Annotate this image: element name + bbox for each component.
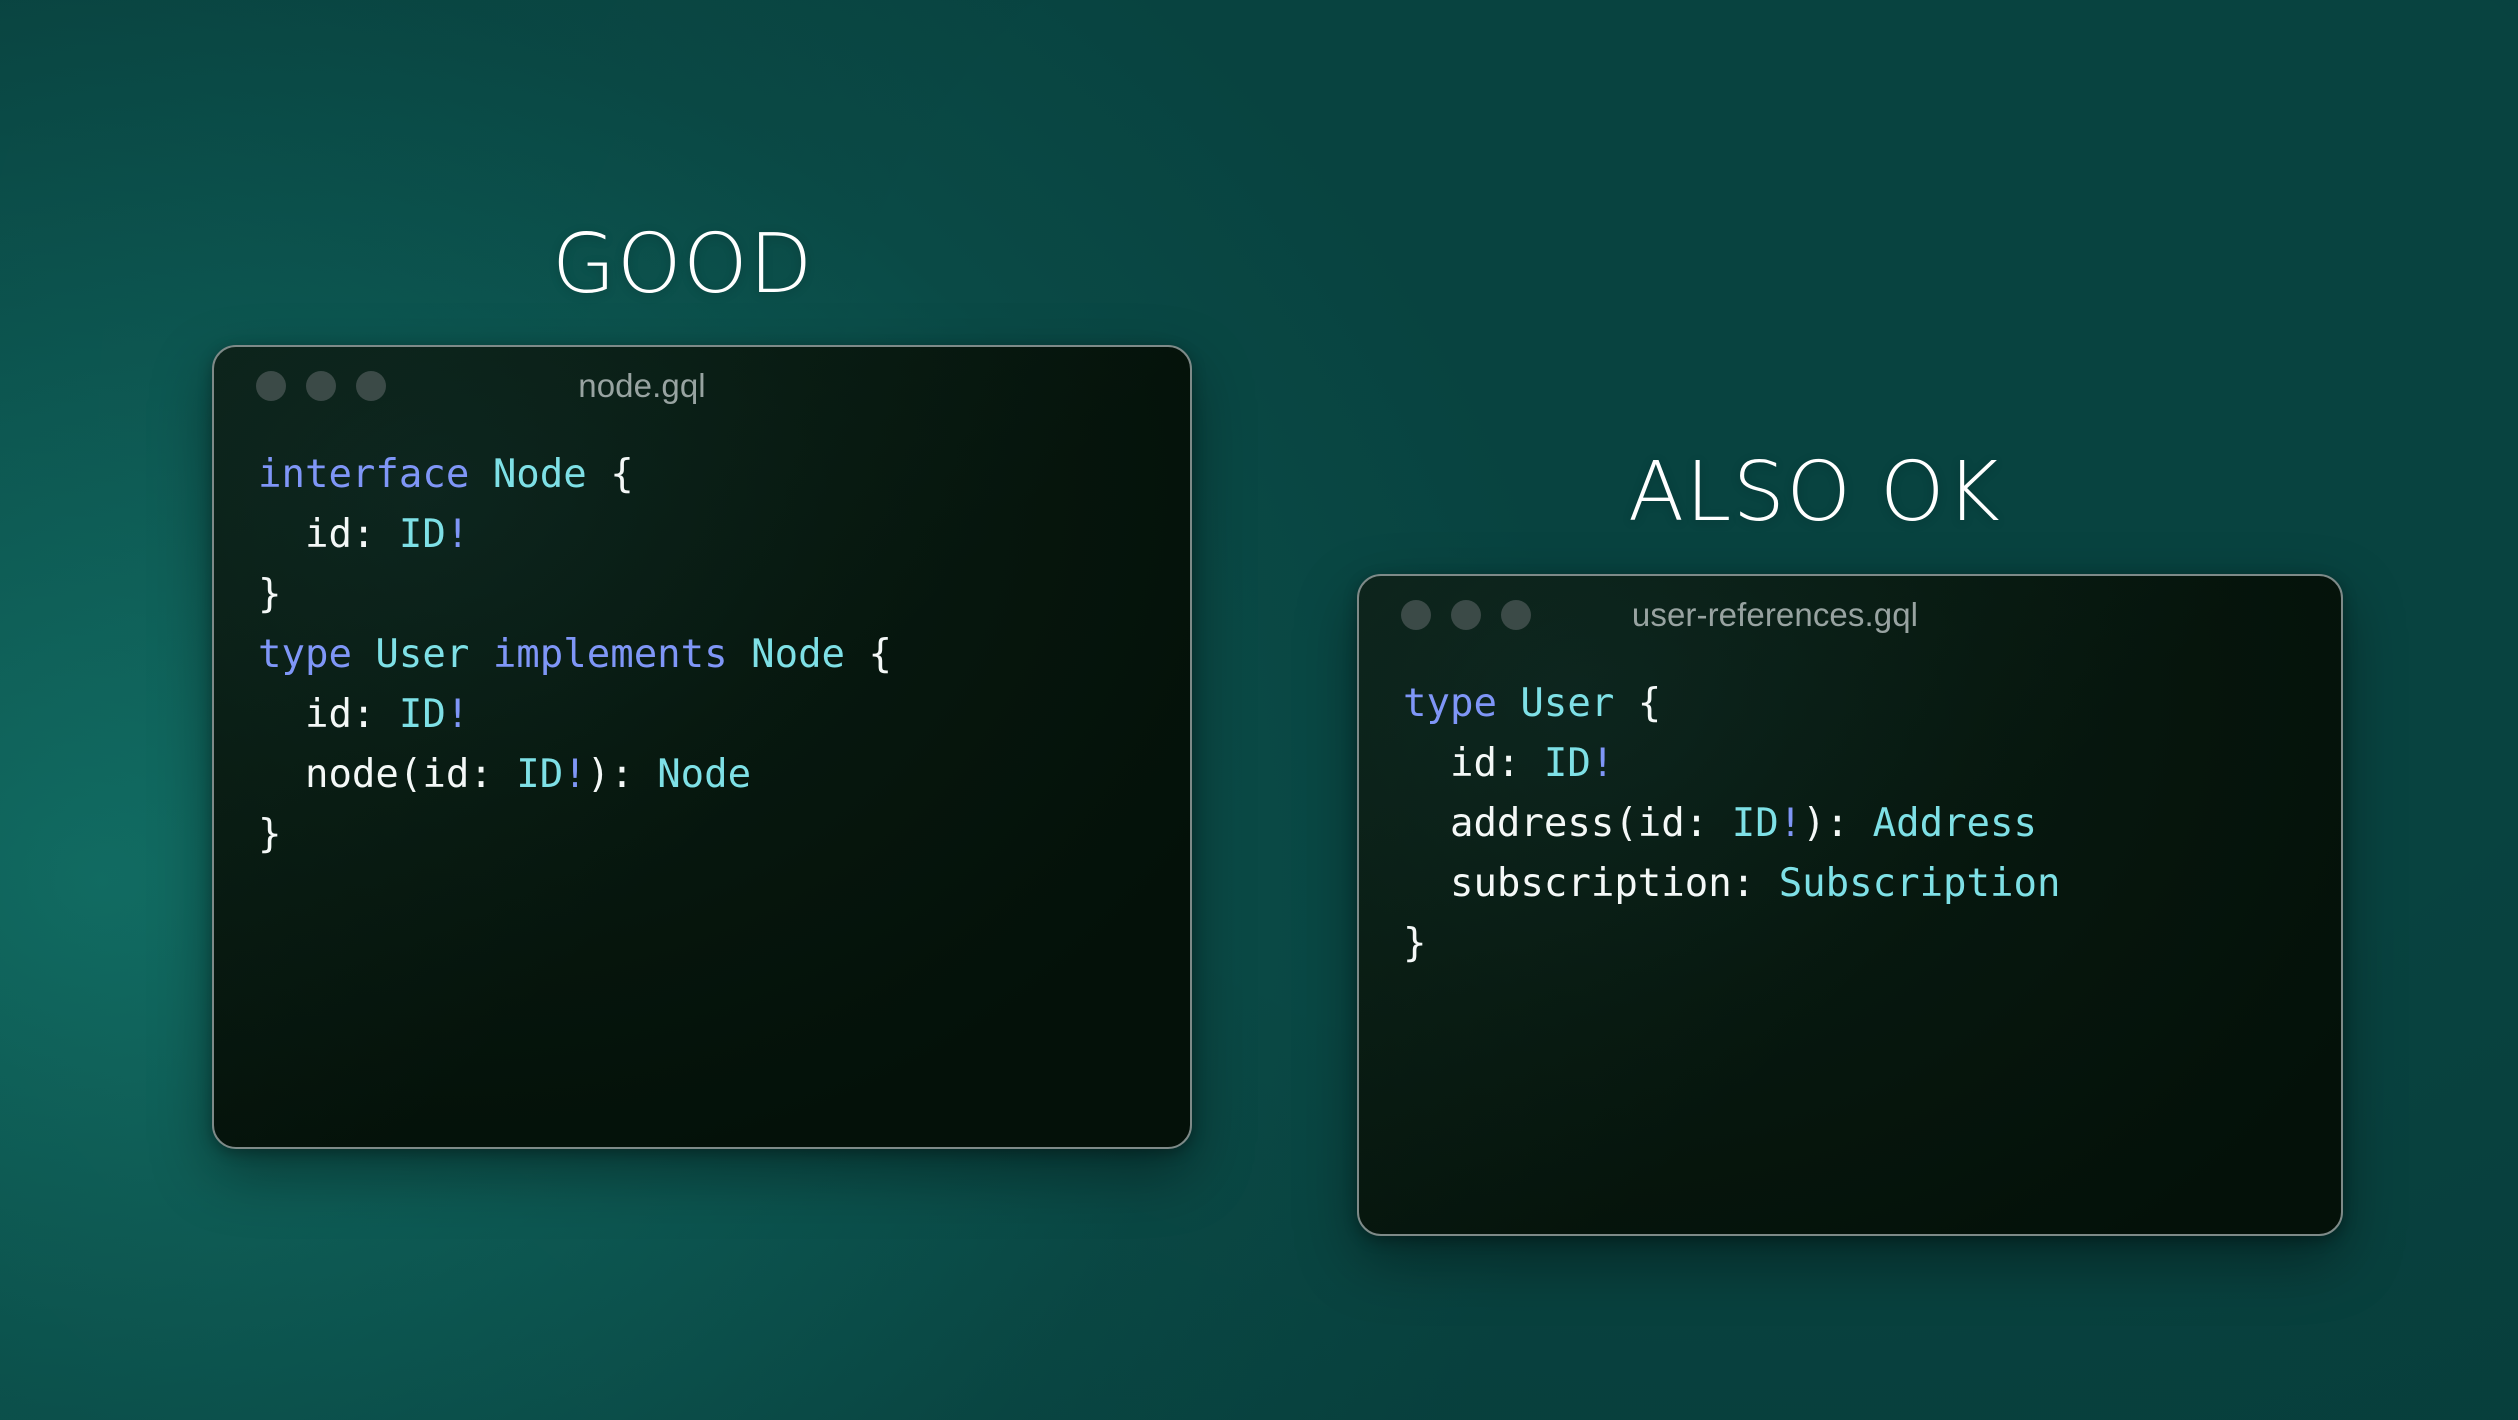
code-token: { [845, 632, 892, 677]
code-line: id: ID! [258, 505, 1190, 565]
code-token [1497, 681, 1520, 726]
code-line: } [258, 565, 1190, 625]
code-line: address(id: ID!): Address [1403, 794, 2341, 854]
code-token: ): [1802, 801, 1872, 846]
code-token: type [258, 632, 352, 677]
code-token: ID [399, 512, 446, 557]
traffic-light-group [256, 371, 386, 401]
maximize-dot-icon[interactable] [356, 371, 386, 401]
code-token [469, 452, 492, 497]
code-token: ID [1544, 741, 1591, 786]
code-token: ! [563, 752, 586, 797]
close-dot-icon[interactable] [1401, 600, 1431, 630]
code-token: ! [446, 692, 469, 737]
code-token: subscription: [1403, 861, 1779, 906]
code-token: ID [516, 752, 563, 797]
code-token: ! [446, 512, 469, 557]
code-line: node(id: ID!): Node [258, 745, 1190, 805]
code-token [728, 632, 751, 677]
panel-heading-also-ok: ALSO OK [1628, 452, 2001, 534]
code-token: { [587, 452, 634, 497]
window-titlebar: node.gql [214, 347, 1190, 425]
code-window-also-ok: user-references.gql type User { id: ID! … [1357, 574, 2343, 1236]
code-token: ): [587, 752, 657, 797]
code-token [469, 632, 492, 677]
code-token: id: [258, 512, 399, 557]
code-window-good: node.gql interface Node { id: ID!}type U… [212, 345, 1192, 1149]
code-token: Node [751, 632, 845, 677]
code-token: address(id: [1403, 801, 1732, 846]
code-token: ! [1779, 801, 1802, 846]
code-token: ID [399, 692, 446, 737]
code-token: Node [493, 452, 587, 497]
code-line: } [258, 805, 1190, 865]
code-line: type User { [1403, 674, 2341, 734]
code-token: Node [657, 752, 751, 797]
code-token: User [1520, 681, 1614, 726]
code-block-good: interface Node { id: ID!}type User imple… [214, 425, 1190, 865]
code-line: } [1403, 914, 2341, 974]
code-token: node(id: [258, 752, 516, 797]
window-titlebar: user-references.gql [1359, 576, 2341, 654]
code-block-also-ok: type User { id: ID! address(id: ID!): Ad… [1359, 654, 2341, 974]
traffic-light-group [1401, 600, 1531, 630]
code-token [352, 632, 375, 677]
code-token: ID [1732, 801, 1779, 846]
minimize-dot-icon[interactable] [306, 371, 336, 401]
code-line: subscription: Subscription [1403, 854, 2341, 914]
code-token: Address [1873, 801, 2037, 846]
code-token: } [1403, 921, 1426, 966]
close-dot-icon[interactable] [256, 371, 286, 401]
code-token: } [258, 812, 281, 857]
minimize-dot-icon[interactable] [1451, 600, 1481, 630]
code-line: interface Node { [258, 445, 1190, 505]
code-token: type [1403, 681, 1497, 726]
panel-heading-good: GOOD [552, 224, 814, 306]
code-token: User [375, 632, 469, 677]
code-token: implements [493, 632, 728, 677]
code-line: type User implements Node { [258, 625, 1190, 685]
maximize-dot-icon[interactable] [1501, 600, 1531, 630]
code-token: id: [258, 692, 399, 737]
code-line: id: ID! [258, 685, 1190, 745]
code-line: id: ID! [1403, 734, 2341, 794]
code-token: interface [258, 452, 469, 497]
code-token: { [1614, 681, 1661, 726]
code-token: id: [1403, 741, 1544, 786]
code-token: } [258, 572, 281, 617]
code-token: Subscription [1779, 861, 2061, 906]
code-token: ! [1591, 741, 1614, 786]
